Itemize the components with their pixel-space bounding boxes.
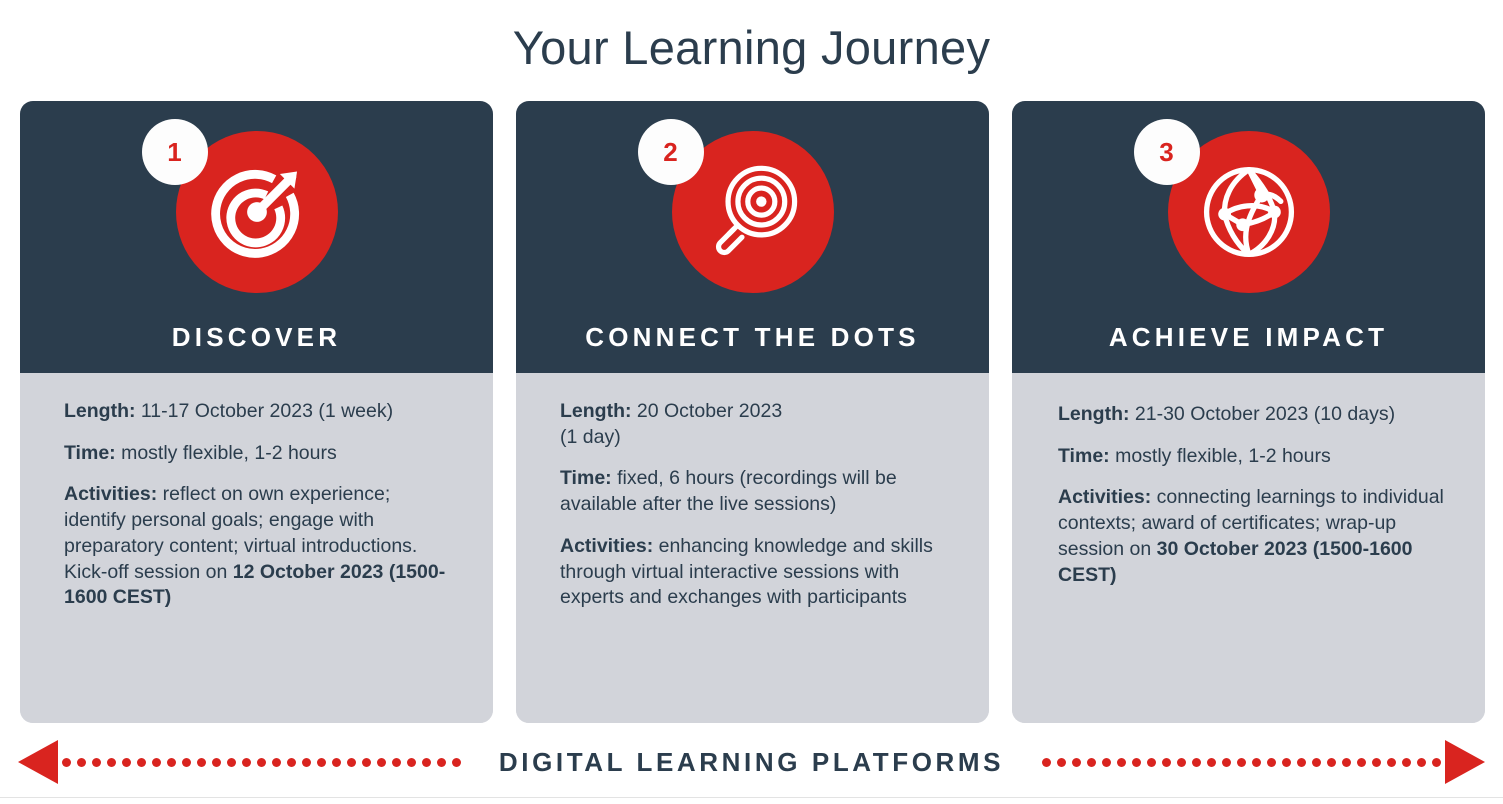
platform-banner-label: DIGITAL LEARNING PLATFORMS xyxy=(465,747,1038,778)
detail-label: Length: xyxy=(560,400,631,422)
step-number-badge: 3 xyxy=(1134,119,1200,185)
detail-label: Activities: xyxy=(64,483,157,505)
stage-detail-activities: Activities: connecting learnings to indi… xyxy=(1058,485,1444,588)
arrow-left-icon xyxy=(18,740,58,784)
detail-label: Length: xyxy=(64,400,135,422)
track-dot xyxy=(1312,758,1321,767)
track-dot xyxy=(1372,758,1381,767)
step-number-badge: 2 xyxy=(638,119,704,185)
track-dot xyxy=(1282,758,1291,767)
track-dot xyxy=(1192,758,1201,767)
detail-value: 21-30 October 2023 (10 days) xyxy=(1129,403,1395,425)
track-dot xyxy=(152,758,161,767)
track-dot xyxy=(302,758,311,767)
platform-banner: DIGITAL LEARNING PLATFORMS xyxy=(0,737,1503,787)
track-dot xyxy=(1297,758,1306,767)
stage-card-header: 3 ACHIEVE IMPACT xyxy=(1012,101,1485,373)
track-dot xyxy=(1342,758,1351,767)
detail-label: Time: xyxy=(1058,445,1110,467)
track-dot xyxy=(1132,758,1141,767)
stage-card-achieve-impact: 3 ACHIEVE IMPACT Length: 21-30 October 2… xyxy=(1012,101,1485,723)
track-dot xyxy=(272,758,281,767)
stage-icon-wrap: 1 xyxy=(176,131,338,293)
detail-label: Activities: xyxy=(560,535,653,557)
arrow-right-icon xyxy=(1445,740,1485,784)
track-dot xyxy=(182,758,191,767)
track-dot xyxy=(392,758,401,767)
stage-detail-length: Length: 20 October 2023(1 day) xyxy=(560,399,946,450)
stage-detail-length: Length: 21-30 October 2023 (10 days) xyxy=(1058,402,1444,428)
track-dot xyxy=(1237,758,1246,767)
detail-label: Time: xyxy=(560,467,612,489)
detail-label: Activities: xyxy=(1058,486,1151,508)
target-arrow-icon xyxy=(205,160,309,264)
stage-icon-wrap: 2 xyxy=(672,131,834,293)
detail-value: 20 October 2023 xyxy=(631,400,782,422)
track-dot xyxy=(1072,758,1081,767)
track-dot xyxy=(1102,758,1111,767)
stage-card-title: CONNECT THE DOTS xyxy=(516,322,989,353)
stage-icon-wrap: 3 xyxy=(1168,131,1330,293)
detail-value: mostly flexible, 1-2 hours xyxy=(1110,445,1331,467)
stage-card-discover: 1 DISCOVER Length: 11-17 October 2023 (1… xyxy=(20,101,493,723)
track-dot xyxy=(1117,758,1126,767)
track-dot xyxy=(1357,758,1366,767)
track-dot xyxy=(197,758,206,767)
track-dot xyxy=(1252,758,1261,767)
track-dot xyxy=(452,758,461,767)
track-dot xyxy=(1387,758,1396,767)
track-dot xyxy=(1222,758,1231,767)
dotted-track-left xyxy=(58,757,465,768)
track-dot xyxy=(167,758,176,767)
detail-value: mostly flexible, 1-2 hours xyxy=(116,442,337,464)
track-dot xyxy=(362,758,371,767)
stage-card-connect-the-dots: 2 CONNECT THE DOTS Length: 20 October 20… xyxy=(516,101,989,723)
track-dot xyxy=(287,758,296,767)
detail-label: Time: xyxy=(64,442,116,464)
track-dot xyxy=(437,758,446,767)
stage-detail-time: Time: mostly flexible, 1-2 hours xyxy=(64,441,450,467)
track-dot xyxy=(332,758,341,767)
stage-card-body: Length: 21-30 October 2023 (10 days) Tim… xyxy=(1012,373,1485,723)
bottom-divider xyxy=(0,797,1503,798)
stage-detail-activities: Activities: reflect on own experience; i… xyxy=(64,482,450,611)
track-dot xyxy=(227,758,236,767)
dotted-track-right xyxy=(1038,757,1445,768)
track-dot xyxy=(107,758,116,767)
stage-card-header: 2 CONNECT THE DOTS xyxy=(516,101,989,373)
track-dot xyxy=(1087,758,1096,767)
track-dot xyxy=(407,758,416,767)
stage-card-title: ACHIEVE IMPACT xyxy=(1012,322,1485,353)
stage-detail-activities: Activities: enhancing knowledge and skil… xyxy=(560,534,946,611)
step-number-badge: 1 xyxy=(142,119,208,185)
track-dot xyxy=(1057,758,1066,767)
track-dot xyxy=(1432,758,1441,767)
track-dot xyxy=(1042,758,1051,767)
track-dot xyxy=(422,758,431,767)
stage-detail-time: Time: fixed, 6 hours (recordings will be… xyxy=(560,466,946,517)
track-dot xyxy=(1147,758,1156,767)
network-globe-icon xyxy=(1196,159,1302,265)
track-dot xyxy=(1402,758,1411,767)
page-title: Your Learning Journey xyxy=(0,22,1503,74)
track-dot xyxy=(347,758,356,767)
track-dot xyxy=(1162,758,1171,767)
track-dot xyxy=(77,758,86,767)
detail-value-second-line: (1 day) xyxy=(560,426,621,448)
stage-card-title: DISCOVER xyxy=(20,322,493,353)
track-dot xyxy=(1207,758,1216,767)
track-dot xyxy=(1177,758,1186,767)
track-dot xyxy=(1267,758,1276,767)
track-dot xyxy=(122,758,131,767)
journey-stage-cards: 1 DISCOVER Length: 11-17 October 2023 (1… xyxy=(20,101,1485,723)
track-dot xyxy=(62,758,71,767)
stage-card-header: 1 DISCOVER xyxy=(20,101,493,373)
track-dot xyxy=(212,758,221,767)
stage-detail-time: Time: mostly flexible, 1-2 hours xyxy=(1058,444,1444,470)
detail-label: Length: xyxy=(1058,403,1129,425)
track-dot xyxy=(257,758,266,767)
track-dot xyxy=(1417,758,1426,767)
track-dot xyxy=(242,758,251,767)
track-dot xyxy=(137,758,146,767)
magnifier-target-icon xyxy=(701,160,805,264)
track-dot xyxy=(1327,758,1336,767)
stage-card-body: Length: 20 October 2023(1 day) Time: fix… xyxy=(516,373,989,723)
detail-value: 11-17 October 2023 (1 week) xyxy=(135,400,393,422)
track-dot xyxy=(92,758,101,767)
stage-card-body: Length: 11-17 October 2023 (1 week) Time… xyxy=(20,373,493,723)
stage-detail-length: Length: 11-17 October 2023 (1 week) xyxy=(64,399,450,425)
track-dot xyxy=(317,758,326,767)
track-dot xyxy=(377,758,386,767)
